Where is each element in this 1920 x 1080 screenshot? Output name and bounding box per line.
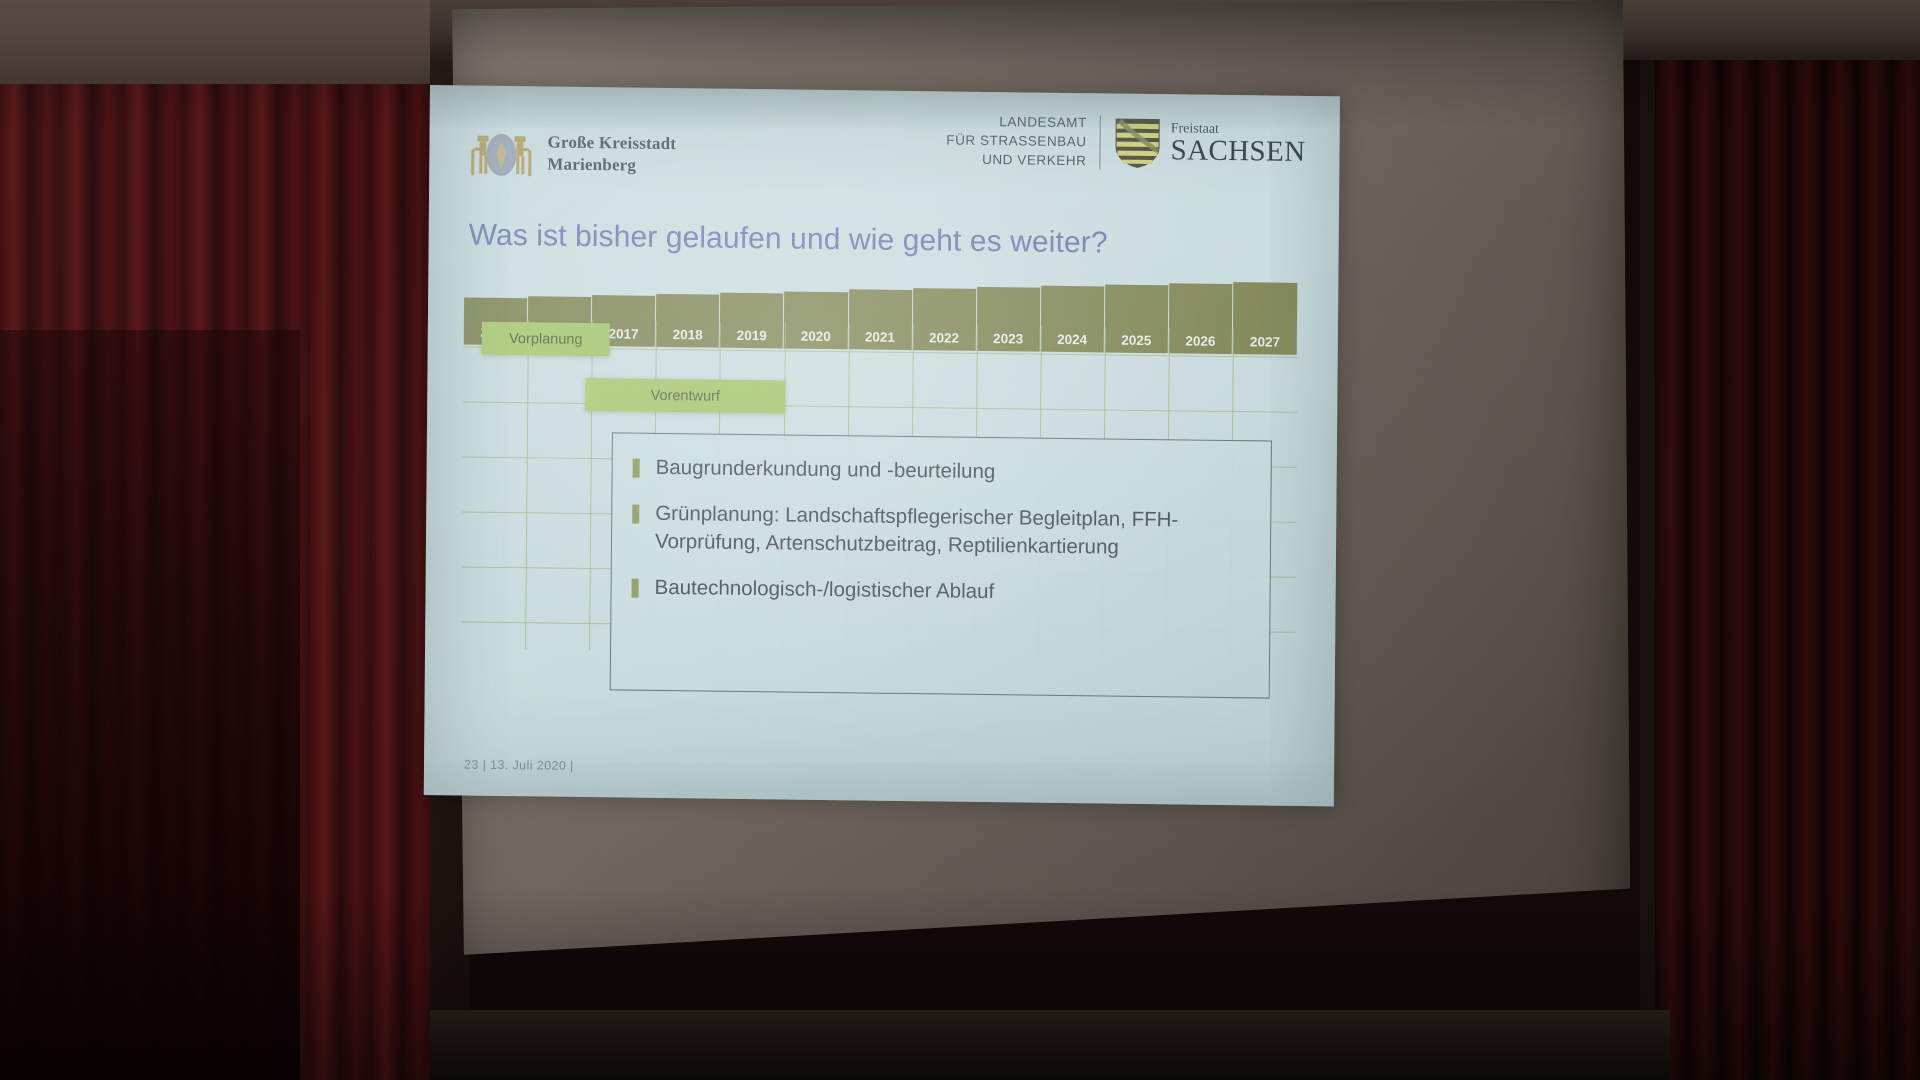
curtain-shadow — [0, 330, 300, 1080]
projection-screen — [445, 0, 1630, 1005]
screen-shading — [445, 0, 1630, 1005]
ceiling-corner — [0, 0, 430, 84]
floor-band — [430, 1010, 1670, 1080]
right-curtain — [1655, 0, 1920, 1080]
room-photograph: Große Kreisstadt Marienberg LANDESAMT FÜ… — [0, 0, 1920, 1080]
